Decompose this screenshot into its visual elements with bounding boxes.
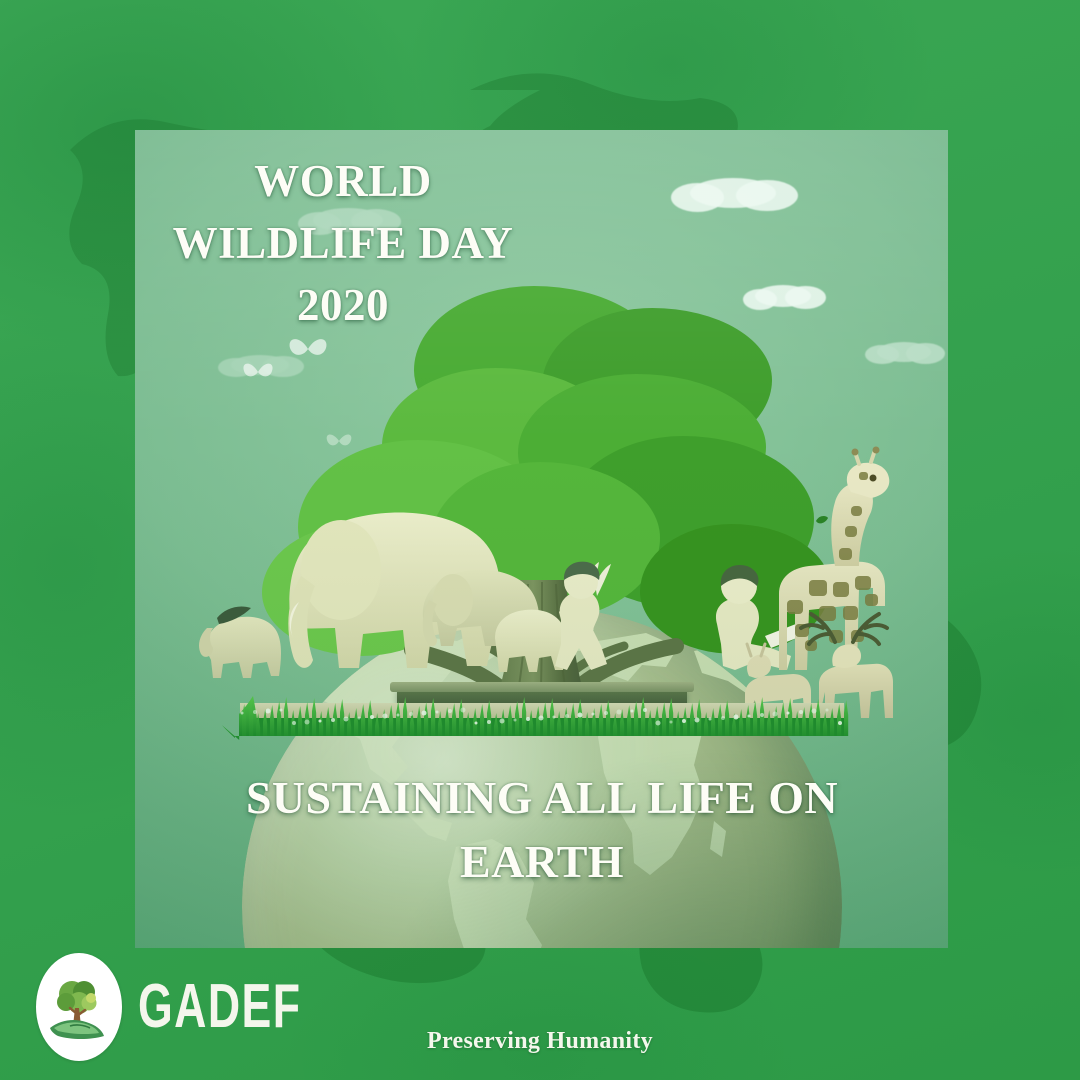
organization-slogan: Preserving Humanity [0, 1028, 1080, 1055]
grass-strip [239, 690, 845, 736]
tagline-line-2: EARTH [168, 830, 916, 894]
headline-line-1: WORLD [163, 150, 523, 212]
child-left [555, 562, 607, 670]
headline-line-3: 2020 [163, 274, 523, 336]
stag-antlers [801, 614, 887, 644]
poster-canvas: WORLD WILDLIFE DAY 2020 SUSTAINING ALL L… [0, 0, 1080, 1080]
cloud-icon [690, 178, 776, 208]
headline-line-2: WILDLIFE DAY [163, 212, 523, 274]
zebra [199, 606, 281, 678]
tagline-line-1: SUSTAINING ALL LIFE ON [168, 766, 916, 830]
cloud-icon [877, 342, 931, 362]
page-title: WORLD WILDLIFE DAY 2020 [163, 150, 523, 336]
poster-tagline: SUSTAINING ALL LIFE ON EARTH [168, 766, 916, 894]
